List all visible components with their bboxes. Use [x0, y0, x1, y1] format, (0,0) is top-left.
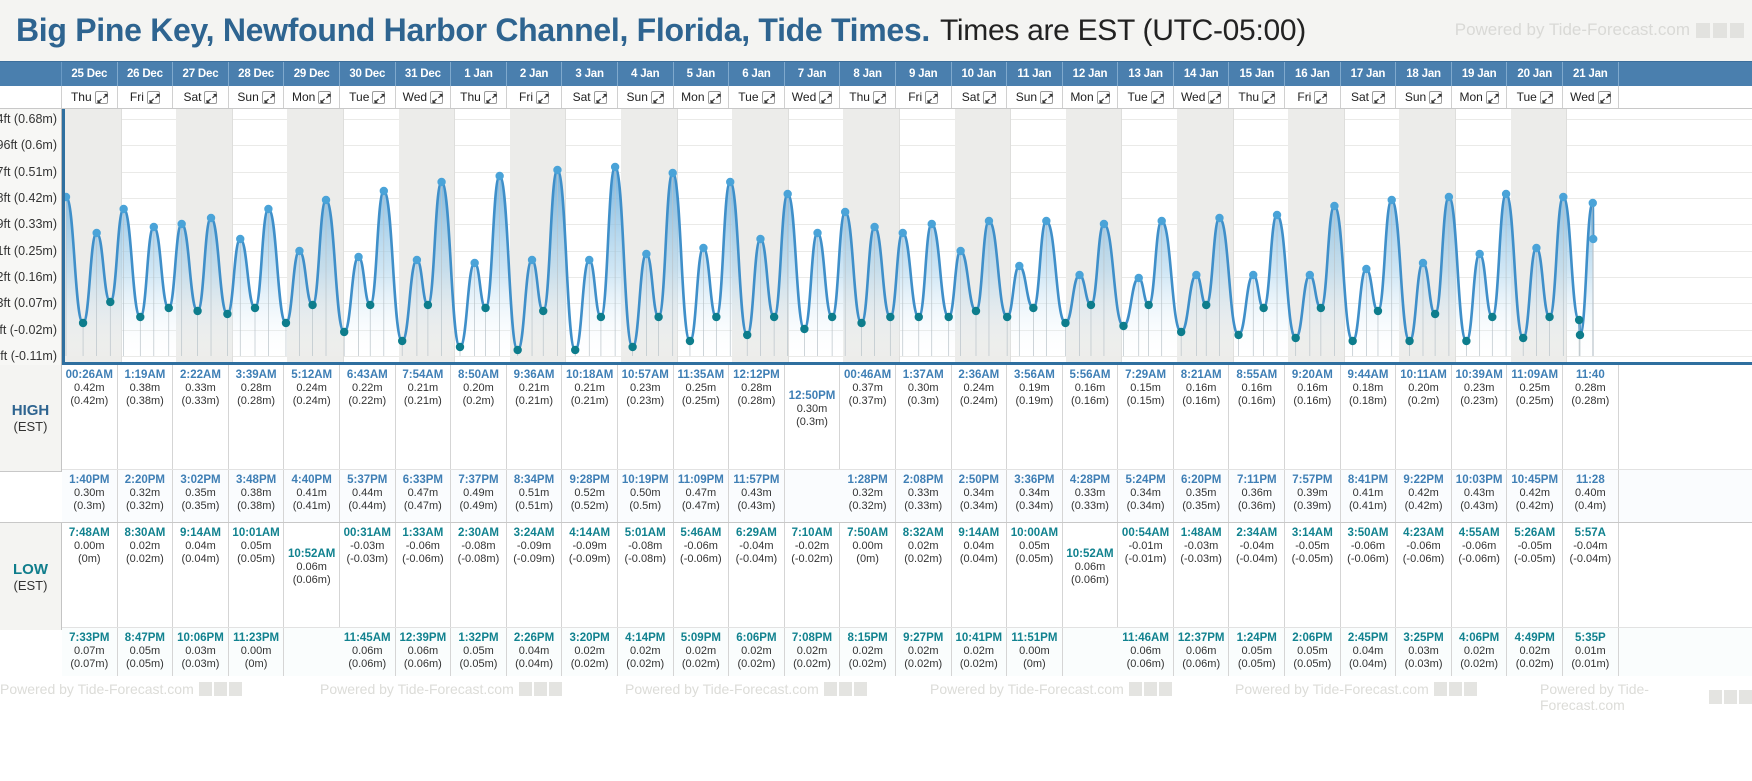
low-tide-point[interactable] — [223, 310, 231, 318]
low-tide-point[interactable] — [1061, 319, 1069, 327]
low-tide-point[interactable] — [456, 343, 464, 351]
tide-height-metric: (0.04m) — [1341, 658, 1396, 671]
low-tide-cell: 4:14AM-0.09m(-0.09m) — [562, 523, 618, 627]
expand-icon[interactable] — [1429, 91, 1442, 104]
high-tide-cell: 11:09AM0.25m(0.25m) — [1507, 365, 1563, 469]
date-header-cell[interactable]: 29 Dec — [284, 62, 340, 86]
low-tide-point[interactable] — [1545, 313, 1553, 321]
tide-height-metric: (-0.03m) — [340, 553, 395, 566]
day-of-week-label: Wed — [1570, 90, 1594, 104]
low-tide-point[interactable] — [106, 298, 114, 306]
day-of-week-cell[interactable]: Mon — [284, 86, 340, 108]
day-of-week-cell[interactable]: Mon — [1452, 86, 1508, 108]
tide-height-metric: (0.35m) — [1174, 500, 1229, 513]
date-header-cell[interactable]: 4 Jan — [618, 62, 674, 86]
high-tide-label: HIGH (EST) — [0, 365, 62, 472]
high-tide-point[interactable] — [1042, 217, 1050, 225]
expand-icon[interactable] — [1540, 91, 1553, 104]
low-tide-point[interactable] — [1462, 337, 1470, 345]
high-tide-point[interactable] — [119, 205, 127, 213]
high-tide-point[interactable] — [437, 178, 445, 186]
low-tide-point[interactable] — [193, 307, 201, 315]
footer-watermark-text: Powered by Tide-Forecast.com — [0, 681, 194, 697]
tide-height: 0.21m — [562, 382, 617, 395]
tide-time: 4:14PM — [618, 631, 673, 645]
tide-height-metric: (0.49m) — [451, 500, 506, 513]
low-tide-point[interactable] — [136, 313, 144, 321]
tide-height-metric: (0.02m) — [618, 658, 673, 671]
high-tide-point[interactable] — [528, 256, 536, 264]
low-tide-cell: 8:32AM0.02m(0.02m) — [896, 523, 952, 627]
tide-time: 1:37AM — [896, 368, 951, 382]
low-tide-point[interactable] — [712, 313, 720, 321]
high-tide-point[interactable] — [413, 256, 421, 264]
low-tide-point[interactable] — [915, 313, 923, 321]
tide-height-metric: (0.33m) — [1063, 500, 1118, 513]
high-tide-point[interactable] — [841, 208, 849, 216]
tide-height-metric: (0m) — [62, 553, 117, 566]
high-tide-point[interactable] — [726, 178, 734, 186]
date-header-cell[interactable]: 12 Jan — [1063, 62, 1119, 86]
tide-height: 0.05m — [229, 540, 284, 553]
day-of-week-cell[interactable]: Wed — [396, 86, 452, 108]
tide-height: 0.00m — [840, 540, 895, 553]
high-tide-point[interactable] — [207, 214, 215, 222]
high-tide-cell: 5:56AM0.16m(0.16m) — [1063, 365, 1119, 469]
tide-height: 0.49m — [451, 487, 506, 500]
tide-height-metric: (0m) — [229, 658, 284, 671]
low-tide-cell: 10:52AM0.06m(0.06m) — [284, 523, 340, 627]
tide-height: -0.05m — [1285, 540, 1340, 553]
date-header-cell[interactable]: 16 Jan — [1285, 62, 1341, 86]
tide-time: 9:22PM — [1396, 473, 1451, 487]
tide-height-metric: (-0.04m) — [729, 553, 784, 566]
day-of-week-cell[interactable]: Thu — [840, 86, 896, 108]
tide-height-metric: (0.18m) — [1341, 395, 1396, 408]
tide-time: 7:11PM — [1229, 473, 1284, 487]
high-tide-point[interactable] — [1362, 265, 1370, 273]
low-tide-point[interactable] — [1202, 301, 1210, 309]
tide-height: 0.50m — [618, 487, 673, 500]
low-tide-point[interactable] — [513, 346, 521, 354]
tide-height-metric: (0.22m) — [340, 395, 395, 408]
date-header-cell[interactable]: 21 Jan — [1563, 62, 1619, 86]
low-tide-point[interactable] — [800, 325, 808, 333]
low-tide-point[interactable] — [654, 313, 662, 321]
day-of-week-cell[interactable]: Sat — [952, 86, 1008, 108]
low-tide-point[interactable] — [539, 307, 547, 315]
low-tide-point[interactable] — [597, 313, 605, 321]
high-tide-point[interactable] — [1419, 259, 1427, 267]
day-of-week-cell[interactable]: Tue — [1507, 86, 1563, 108]
high-tide-point[interactable] — [669, 169, 677, 177]
high-tide-cell: 10:39AM0.23m(0.23m) — [1452, 365, 1508, 469]
high-tide-point[interactable] — [1075, 271, 1083, 279]
day-of-week-cell[interactable]: Wed — [1563, 86, 1619, 108]
high-tide-point[interactable] — [264, 205, 272, 213]
high-tide-point[interactable] — [1015, 262, 1023, 270]
day-of-week-cell[interactable]: Wed — [785, 86, 841, 108]
tide-time: 12:39PM — [396, 631, 451, 645]
tide-height: 0.30m — [62, 487, 117, 500]
high-tide-point[interactable] — [1135, 274, 1143, 282]
high-tide-point[interactable] — [1192, 271, 1200, 279]
expand-icon[interactable] — [983, 91, 996, 104]
expand-icon[interactable] — [873, 91, 886, 104]
date-header-cell[interactable]: 17 Jan — [1341, 62, 1397, 86]
low-tide-point[interactable] — [1374, 307, 1382, 315]
day-of-week-cell[interactable]: Wed — [1174, 86, 1230, 108]
high-tide-point[interactable] — [1215, 214, 1223, 222]
low-tide-point[interactable] — [424, 301, 432, 309]
expand-icon[interactable] — [1097, 91, 1110, 104]
tide-height-metric: (0.06m) — [1118, 658, 1173, 671]
low-tide-point[interactable] — [628, 343, 636, 351]
low-tide-point[interactable] — [686, 337, 694, 345]
expand-icon[interactable] — [318, 91, 331, 104]
day-of-week-cell[interactable]: Fri — [1285, 86, 1341, 108]
date-header-cell[interactable]: 11 Jan — [1007, 62, 1063, 86]
tide-height: 0.43m — [1452, 487, 1507, 500]
low-tide-point[interactable] — [79, 319, 87, 327]
tide-time: 11:40 — [1563, 368, 1618, 382]
expand-icon[interactable] — [484, 91, 497, 104]
high-tide-point[interactable] — [899, 229, 907, 237]
tide-height: 0.41m — [1341, 487, 1396, 500]
high-tide-point[interactable] — [611, 163, 619, 171]
date-header-cell[interactable]: 18 Jan — [1396, 62, 1452, 86]
date-header-cell[interactable]: 30 Dec — [340, 62, 396, 86]
tide-height: -0.01m — [1118, 540, 1173, 553]
day-of-week-cell[interactable]: Sun — [618, 86, 674, 108]
date-header-cell[interactable]: 28 Dec — [229, 62, 285, 86]
date-header-cell[interactable]: 1 Jan — [451, 62, 507, 86]
tide-time: 00:46AM — [840, 368, 895, 382]
footer-watermark-text: Powered by Tide-Forecast.com — [1235, 681, 1429, 697]
expand-icon[interactable] — [95, 91, 108, 104]
low-tide-point[interactable] — [340, 328, 348, 336]
low-tide-point[interactable] — [1317, 304, 1325, 312]
flag-icon — [824, 682, 837, 696]
high-tide-point[interactable] — [1589, 235, 1597, 243]
tide-height: 0.47m — [674, 487, 729, 500]
tide-time: 9:14AM — [952, 526, 1007, 540]
tide-curve — [65, 109, 1752, 365]
date-header-cell[interactable]: 31 Dec — [396, 62, 452, 86]
date-header-cell[interactable]: 13 Jan — [1118, 62, 1174, 86]
high-tide-cell: 10:57AM0.23m(0.23m) — [618, 365, 674, 469]
expand-icon[interactable] — [1208, 91, 1221, 104]
high-tide-point[interactable] — [1502, 190, 1510, 198]
tide-time: 00:54AM — [1118, 526, 1173, 540]
tide-time: 1:24PM — [1229, 631, 1284, 645]
flag-icon — [1464, 682, 1477, 696]
expand-icon[interactable] — [1314, 91, 1327, 104]
date-header-cell[interactable]: 15 Jan — [1229, 62, 1285, 86]
tide-time: 9:27PM — [896, 631, 951, 645]
day-of-week-label: Wed — [792, 90, 816, 104]
low-tide-cell: 7:50AM0.00m(0m) — [840, 523, 896, 627]
day-of-week-cell[interactable]: Fri — [896, 86, 952, 108]
low-tide-point[interactable] — [1177, 328, 1185, 336]
date-header-cell[interactable]: 10 Jan — [952, 62, 1008, 86]
date-header-row: 25 Dec26 Dec27 Dec28 Dec29 Dec30 Dec31 D… — [0, 61, 1752, 86]
day-of-week-cell[interactable]: Fri — [507, 86, 563, 108]
high-tide-point[interactable] — [1330, 202, 1338, 210]
expand-icon[interactable] — [372, 91, 385, 104]
tide-time: 10:01AM — [229, 526, 284, 540]
tide-time: 4:40PM — [284, 473, 339, 487]
flag-icon — [1159, 682, 1172, 696]
high-tide-point[interactable] — [92, 229, 100, 237]
high-tide-point[interactable] — [1559, 193, 1567, 201]
high-tide-point[interactable] — [928, 220, 936, 228]
tide-time: 3:48PM — [229, 473, 284, 487]
tide-time: 5:35P — [1563, 631, 1618, 645]
high-tide-point[interactable] — [699, 244, 707, 252]
high-tide-point[interactable] — [1306, 271, 1314, 279]
tide-height-metric: (-0.06m) — [396, 553, 451, 566]
tide-height: 0.02m — [896, 645, 951, 658]
expand-icon[interactable] — [204, 91, 217, 104]
day-of-week-cell[interactable]: Tue — [340, 86, 396, 108]
high-tide-point[interactable] — [1589, 199, 1597, 207]
low-tide-point[interactable] — [571, 346, 579, 354]
tide-time: 10:52AM — [284, 547, 339, 561]
expand-icon[interactable] — [1598, 91, 1611, 104]
high-tide-point[interactable] — [150, 223, 158, 231]
high-tide-point[interactable] — [1475, 250, 1483, 258]
tide-height-metric: (0.41m) — [1341, 500, 1396, 513]
tide-height-metric: (0.02m) — [840, 658, 895, 671]
tide-time: 2:22AM — [173, 368, 228, 382]
day-of-week-cell[interactable]: Sat — [173, 86, 229, 108]
day-of-week-cell[interactable]: Sun — [229, 86, 285, 108]
expand-icon[interactable] — [430, 91, 443, 104]
day-of-week-cell[interactable]: Sat — [1341, 86, 1397, 108]
tide-time: 7:10AM — [785, 526, 840, 540]
tide-time: 9:44AM — [1341, 368, 1396, 382]
tide-height: 0.30m — [785, 403, 840, 416]
low-tide-point[interactable] — [1087, 301, 1095, 309]
expand-icon[interactable] — [651, 91, 664, 104]
high-tide-point[interactable] — [1388, 196, 1396, 204]
low-tide-cell: 4:06PM0.02m(0.02m) — [1452, 628, 1508, 680]
tide-time: 4:28PM — [1063, 473, 1118, 487]
day-of-week-cell[interactable]: Thu — [1229, 86, 1285, 108]
high-tide-point[interactable] — [756, 235, 764, 243]
date-header-cell[interactable]: 25 Dec — [62, 62, 118, 86]
high-tide-point[interactable] — [985, 217, 993, 225]
day-of-week-cell[interactable]: Sat — [562, 86, 618, 108]
expand-icon[interactable] — [1040, 91, 1053, 104]
low-tide-point[interactable] — [770, 313, 778, 321]
low-tide-point[interactable] — [1405, 337, 1413, 345]
tide-height-metric: (0.16m) — [1229, 395, 1284, 408]
low-tide-point[interactable] — [743, 331, 751, 339]
high-tide-point[interactable] — [642, 250, 650, 258]
high-tide-point[interactable] — [1445, 193, 1453, 201]
high-tide-point[interactable] — [1249, 271, 1257, 279]
expand-icon[interactable] — [708, 91, 721, 104]
tide-height: 0.06m — [396, 645, 451, 658]
date-header-cell[interactable]: 5 Jan — [674, 62, 730, 86]
expand-icon[interactable] — [762, 91, 775, 104]
day-of-week-label: Sat — [1351, 90, 1369, 104]
high-tide-point[interactable] — [354, 253, 362, 261]
date-header-cell[interactable]: 19 Jan — [1452, 62, 1508, 86]
high-tide-point[interactable] — [322, 196, 330, 204]
tide-time: 9:28PM — [562, 473, 617, 487]
low-tide-point[interactable] — [1144, 301, 1152, 309]
day-of-week-cell[interactable]: Sun — [1007, 86, 1063, 108]
tide-height-metric: (0.21m) — [396, 395, 451, 408]
low-tide-point[interactable] — [308, 301, 316, 309]
high-tide-point[interactable] — [813, 229, 821, 237]
low-tide-point[interactable] — [251, 304, 259, 312]
low-tide-point[interactable] — [366, 301, 374, 309]
flag-icon — [1696, 23, 1710, 38]
tide-height: 0.40m — [1563, 487, 1618, 500]
date-header-cell[interactable]: 26 Dec — [118, 62, 174, 86]
expand-icon[interactable] — [1372, 91, 1385, 104]
tide-height: -0.03m — [1174, 540, 1229, 553]
low-tide-cell: 12:39PM0.06m(0.06m) — [396, 628, 452, 680]
date-header-cell[interactable]: 14 Jan — [1174, 62, 1230, 86]
low-tide-point[interactable] — [282, 319, 290, 327]
date-header-cell[interactable]: 3 Jan — [562, 62, 618, 86]
low-tide-point[interactable] — [1119, 322, 1127, 330]
tide-height-metric: (0.42m) — [1396, 500, 1451, 513]
tide-height: 0.04m — [1341, 645, 1396, 658]
tide-time: 7:29AM — [1118, 368, 1173, 382]
low-tide-point[interactable] — [1519, 334, 1527, 342]
tide-height: -0.04m — [1229, 540, 1284, 553]
high-tide-point[interactable] — [783, 190, 791, 198]
tide-height-metric: (0.16m) — [1285, 395, 1340, 408]
low-tide-point[interactable] — [1431, 310, 1439, 318]
tide-time: 2:26PM — [507, 631, 562, 645]
low-tide-point[interactable] — [1259, 304, 1267, 312]
high-tide-point[interactable] — [585, 256, 593, 264]
date-header-cell[interactable]: 6 Jan — [729, 62, 785, 86]
low-tide-point[interactable] — [1488, 313, 1496, 321]
low-tide-point[interactable] — [1576, 331, 1584, 339]
tide-height: 0.28m — [729, 382, 784, 395]
low-tide-point[interactable] — [398, 337, 406, 345]
low-tide-point[interactable] — [165, 304, 173, 312]
tide-height-metric: (-0.02m) — [785, 553, 840, 566]
tide-height-metric: (0.15m) — [1118, 395, 1173, 408]
high-tide-point[interactable] — [495, 172, 503, 180]
tide-height: 0.07m — [62, 645, 117, 658]
date-header-cell[interactable]: 8 Jan — [840, 62, 896, 86]
high-tide-point[interactable] — [1158, 217, 1166, 225]
high-tide-point[interactable] — [1273, 211, 1281, 219]
high-tide-point[interactable] — [956, 247, 964, 255]
day-of-week-cell[interactable]: Mon — [674, 86, 730, 108]
low-tide-point[interactable] — [972, 307, 980, 315]
tide-height-metric: (0.06m) — [396, 658, 451, 671]
low-tide-point[interactable] — [1291, 334, 1299, 342]
date-header-cell[interactable]: 20 Jan — [1507, 62, 1563, 86]
day-of-week-cell[interactable]: Fri — [118, 86, 174, 108]
high-tide-point[interactable] — [380, 187, 388, 195]
high-tide-cell: 6:20PM0.35m(0.35m) — [1174, 470, 1230, 522]
date-header-cell[interactable]: 2 Jan — [507, 62, 563, 86]
high-tide-point[interactable] — [177, 220, 185, 228]
high-tide-point[interactable] — [65, 193, 70, 201]
date-header-cell[interactable]: 27 Dec — [173, 62, 229, 86]
low-tide-label: LOW (EST) — [0, 523, 62, 630]
tide-time: 5:57A — [1563, 526, 1618, 540]
date-header-cell[interactable]: 7 Jan — [785, 62, 841, 86]
low-tide-point[interactable] — [1029, 304, 1037, 312]
day-of-week-cell[interactable]: Mon — [1063, 86, 1119, 108]
high-tide-cell: 6:33PM0.47m(0.47m) — [396, 470, 452, 522]
tide-time: 11:51PM — [1007, 631, 1062, 645]
low-tide-point[interactable] — [1348, 337, 1356, 345]
tide-height: 0.04m — [507, 645, 562, 658]
tide-time: 5:37PM — [340, 473, 395, 487]
high-tide-point[interactable] — [1100, 220, 1108, 228]
expand-icon[interactable] — [1151, 91, 1164, 104]
day-of-week-label: Thu — [1238, 90, 1259, 104]
date-header-cell[interactable]: 9 Jan — [896, 62, 952, 86]
low-tide-point[interactable] — [481, 304, 489, 312]
tide-height-metric: (0.06m) — [284, 574, 339, 587]
day-of-week-cell[interactable]: Thu — [62, 86, 118, 108]
expand-icon[interactable] — [925, 91, 938, 104]
low-tide-point[interactable] — [886, 313, 894, 321]
tide-time: 10:11AM — [1396, 368, 1451, 382]
high-tide-cell: 6:43AM0.22m(0.22m) — [340, 365, 396, 469]
high-tide-point[interactable] — [1532, 244, 1540, 252]
tide-height: 0.38m — [229, 487, 284, 500]
expand-icon[interactable] — [1262, 91, 1275, 104]
low-tide-point[interactable] — [1003, 313, 1011, 321]
low-tide-cell: 7:48AM0.00m(0m) — [62, 523, 118, 627]
tide-height-metric: (0.02m) — [1507, 658, 1562, 671]
expand-icon[interactable] — [819, 91, 832, 104]
expand-icon[interactable] — [594, 91, 607, 104]
expand-icon[interactable] — [262, 91, 275, 104]
high-tide-point[interactable] — [236, 235, 244, 243]
day-of-week-cell[interactable]: Sun — [1396, 86, 1452, 108]
low-tide-point[interactable] — [828, 313, 836, 321]
low-tide-point[interactable] — [857, 319, 865, 327]
low-tide-point[interactable] — [1575, 316, 1583, 324]
day-of-week-cell[interactable]: Tue — [729, 86, 785, 108]
expand-icon[interactable] — [1486, 91, 1499, 104]
tide-height: 0.02m — [618, 645, 673, 658]
flag-icon — [549, 682, 562, 696]
high-tide-cell: 5:24PM0.34m(0.34m) — [1118, 470, 1174, 522]
low-tide-point[interactable] — [1234, 331, 1242, 339]
day-of-week-cell[interactable]: Tue — [1118, 86, 1174, 108]
high-tide-point[interactable] — [553, 166, 561, 174]
tide-height-metric: (-0.01m) — [1118, 553, 1173, 566]
day-of-week-cell[interactable]: Thu — [451, 86, 507, 108]
day-of-week-label: Thu — [71, 90, 92, 104]
expand-icon[interactable] — [536, 91, 549, 104]
low-tide-point[interactable] — [944, 313, 952, 321]
tide-height: 0.16m — [1174, 382, 1229, 395]
high-tide-point[interactable] — [870, 223, 878, 231]
high-tide-point[interactable] — [470, 259, 478, 267]
high-tide-point[interactable] — [295, 247, 303, 255]
expand-icon[interactable] — [147, 91, 160, 104]
